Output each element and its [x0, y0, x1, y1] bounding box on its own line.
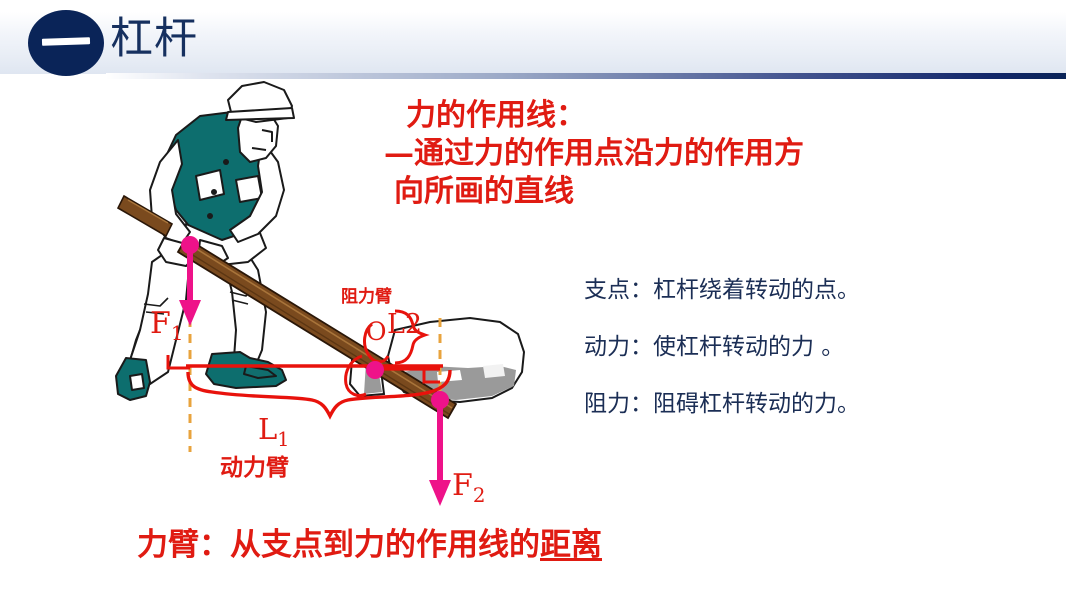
l2-label: L2 — [387, 309, 422, 340]
slide-canvas: 杠杆 力的作用线： —通过力的作用点沿力的作用方 向所画的直线 支点：杠杆绕着转… — [0, 0, 1066, 600]
fulcrum-label: O — [366, 317, 387, 346]
fulcrum-wedge — [350, 352, 384, 396]
force-line-definition: 力的作用线： —通过力的作用点沿力的作用方 向所画的直线 — [384, 97, 944, 211]
conclusion-emphasis: 距离 — [540, 527, 602, 563]
term-effort: 动力：使杠杆转动的力 。 — [584, 319, 1004, 376]
section-number-badge — [28, 10, 104, 76]
term-resistance: 阻力：阻碍杠杆转动的力。 — [584, 376, 1004, 433]
lever-arm-conclusion: 力臂：从支点到力的作用线的距离 — [137, 525, 602, 565]
effort-arm-label: 动力臂 — [220, 448, 289, 482]
terms-list: 支点：杠杆绕着转动的点。 动力：使杠杆转动的力 。 阻力：阻碍杠杆转动的力。 — [584, 262, 1004, 433]
term-fulcrum: 支点：杠杆绕着转动的点。 — [584, 262, 1004, 319]
page-title: 杠杆 — [110, 13, 198, 65]
fulcrum-curl — [346, 356, 366, 396]
force-line-definition-line2: —通过力的作用点沿力的作用方 — [384, 135, 944, 173]
badge-stroke-icon — [42, 37, 90, 46]
f2-application-point — [431, 391, 449, 409]
right-angle-marker-l2 — [424, 368, 440, 382]
conclusion-prefix: 力臂：从支点到力的作用线的 — [137, 527, 540, 563]
force-line-definition-line3: 向所画的直线 — [384, 173, 944, 211]
fulcrum-point — [366, 361, 384, 379]
force-line-definition-line1: 力的作用线： — [384, 97, 944, 135]
l1-label: L1 — [258, 412, 289, 451]
f2-arrow-head — [429, 480, 451, 506]
f2-label: F2 — [452, 468, 485, 507]
header-divider-rule — [106, 73, 1066, 79]
resistance-arm-label: 阻力臂 — [341, 282, 392, 307]
l1-brace — [188, 370, 450, 416]
f1-label: F1 — [150, 306, 183, 345]
f1-application-point — [181, 236, 199, 254]
right-angle-marker-l1 — [168, 355, 190, 368]
worker-figure — [116, 82, 294, 400]
